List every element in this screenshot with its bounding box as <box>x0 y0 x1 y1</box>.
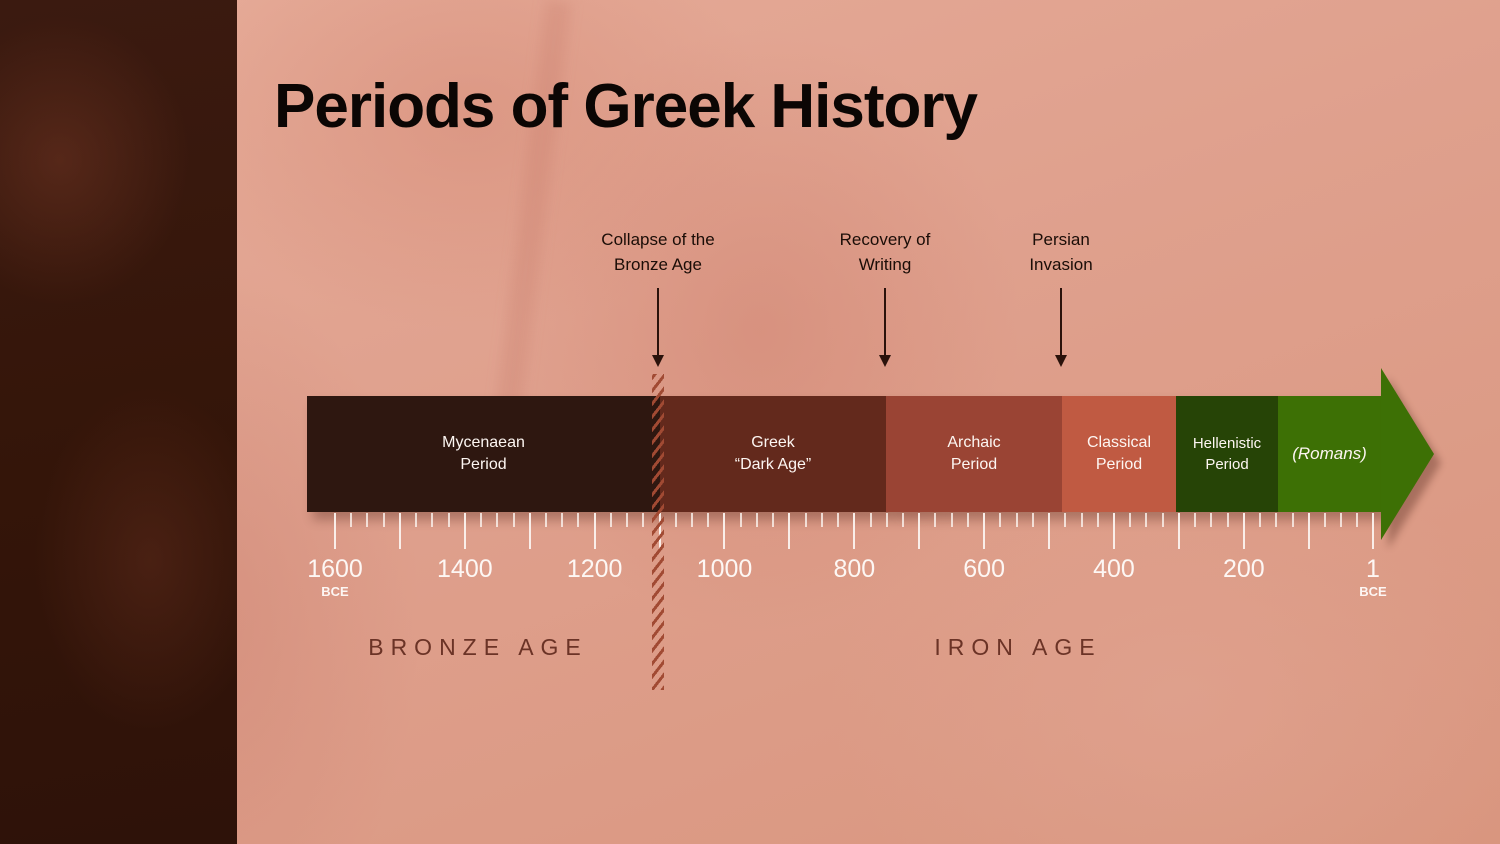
ruler-minor-tick <box>902 513 904 527</box>
ruler-minor-tick <box>415 513 417 527</box>
event-annotation-arrow-icon <box>878 288 892 367</box>
ruler-tick-label: 1400 <box>437 555 493 584</box>
ruler-minor-tick <box>999 513 1001 527</box>
event-annotation-label: Persian Invasion <box>1029 228 1092 277</box>
timeline-segment: Archaic Period <box>886 396 1062 512</box>
ruler-tick-sublabel: BCE <box>1359 584 1386 599</box>
ruler-major-tick <box>723 513 725 549</box>
ruler-minor-tick <box>1227 513 1229 527</box>
ruler-tick-label: 1 <box>1366 555 1380 584</box>
ruler-minor-tick <box>1064 513 1066 527</box>
timeline-segment-label: Mycenaean Period <box>442 432 525 477</box>
ruler-minor-tick <box>870 513 872 527</box>
timeline-segment: Mycenaean Period <box>307 396 660 512</box>
ruler-minor-tick <box>821 513 823 527</box>
ruler-minor-tick <box>383 513 385 527</box>
age-label: BRONZE AGE <box>368 634 588 661</box>
timeline-segment: Classical Period <box>1062 396 1176 512</box>
ruler-minor-tick <box>642 513 644 527</box>
ruler-minor-tick <box>610 513 612 527</box>
ruler-major-tick <box>1048 513 1050 549</box>
ruler-minor-tick <box>545 513 547 527</box>
timeline-segment-label: Greek “Dark Age” <box>735 432 811 477</box>
ruler-major-tick <box>1308 513 1310 549</box>
ruler-major-tick <box>918 513 920 549</box>
ruler-minor-tick <box>496 513 498 527</box>
ruler-minor-tick <box>837 513 839 527</box>
ruler-tick-label: 1600 <box>307 555 363 584</box>
ruler-major-tick <box>594 513 596 549</box>
ruler-minor-tick <box>1081 513 1083 527</box>
ruler-minor-tick <box>1194 513 1196 527</box>
ruler-minor-tick <box>1340 513 1342 527</box>
ruler-minor-tick <box>772 513 774 527</box>
ruler-minor-tick <box>886 513 888 527</box>
ruler-major-tick <box>1243 513 1245 549</box>
ruler-minor-tick <box>805 513 807 527</box>
ruler-major-tick <box>788 513 790 549</box>
timeline-segment-label: (Romans) <box>1292 442 1367 466</box>
ruler-minor-tick <box>366 513 368 527</box>
ruler-minor-tick <box>707 513 709 527</box>
ruler-minor-tick <box>1275 513 1277 527</box>
ruler-minor-tick <box>1292 513 1294 527</box>
ruler-major-tick <box>1372 513 1374 549</box>
ruler-minor-tick <box>740 513 742 527</box>
ruler-minor-tick <box>691 513 693 527</box>
ruler-major-tick <box>983 513 985 549</box>
ruler-major-tick <box>1178 513 1180 549</box>
ruler-minor-tick <box>934 513 936 527</box>
ruler-minor-tick <box>350 513 352 527</box>
ruler-tick-label: 200 <box>1223 555 1265 584</box>
ruler-major-tick <box>853 513 855 549</box>
bronze-iron-age-divider <box>652 374 664 690</box>
ruler-major-tick <box>464 513 466 549</box>
timeline-segment-label: Archaic Period <box>947 432 1000 477</box>
page-title: Periods of Greek History <box>274 74 977 139</box>
ruler-minor-tick <box>561 513 563 527</box>
ruler-minor-tick <box>1016 513 1018 527</box>
age-label: IRON AGE <box>934 634 1101 661</box>
ruler-tick-label: 400 <box>1093 555 1135 584</box>
ruler-minor-tick <box>1145 513 1147 527</box>
ruler-minor-tick <box>1324 513 1326 527</box>
ruler-minor-tick <box>448 513 450 527</box>
ruler-minor-tick <box>626 513 628 527</box>
ruler-minor-tick <box>1259 513 1261 527</box>
ruler-major-tick <box>1113 513 1115 549</box>
ruler-major-tick <box>399 513 401 549</box>
ruler-tick-label: 600 <box>963 555 1005 584</box>
timeline-segment-label: Classical Period <box>1087 432 1151 477</box>
ruler-minor-tick <box>431 513 433 527</box>
timeline-segment: (Romans) <box>1278 396 1381 512</box>
ruler-tick-label: 800 <box>833 555 875 584</box>
event-annotation-label: Recovery of Writing <box>840 228 931 277</box>
event-annotation-label: Collapse of the Bronze Age <box>601 228 714 277</box>
ruler-minor-tick <box>480 513 482 527</box>
ruler-minor-tick <box>675 513 677 527</box>
ruler-minor-tick <box>1356 513 1358 527</box>
timeline-segment: Greek “Dark Age” <box>660 396 886 512</box>
ruler-major-tick <box>334 513 336 549</box>
slide-canvas: Periods of Greek History Collapse of the… <box>0 0 1500 844</box>
ruler-minor-tick <box>513 513 515 527</box>
ruler-minor-tick <box>1129 513 1131 527</box>
event-annotation-arrow-icon <box>651 288 665 367</box>
ruler-minor-tick <box>951 513 953 527</box>
ruler-minor-tick <box>967 513 969 527</box>
timeline-segment: Hellenistic Period <box>1176 396 1278 512</box>
ruler-major-tick <box>529 513 531 549</box>
ruler-minor-tick <box>1210 513 1212 527</box>
ruler-minor-tick <box>1162 513 1164 527</box>
timeline-ruler <box>0 513 1500 549</box>
ruler-tick-label: 1000 <box>697 555 753 584</box>
ruler-minor-tick <box>577 513 579 527</box>
ruler-tick-sublabel: BCE <box>321 584 348 599</box>
ruler-minor-tick <box>756 513 758 527</box>
event-annotation-arrow-icon <box>1054 288 1068 367</box>
left-panel-overlay <box>0 0 237 844</box>
ruler-tick-label: 1200 <box>567 555 623 584</box>
ruler-minor-tick <box>1097 513 1099 527</box>
timeline-bar: Mycenaean PeriodGreek “Dark Age”Archaic … <box>307 396 1381 512</box>
timeline-segment-label: Hellenistic Period <box>1193 433 1261 475</box>
ruler-minor-tick <box>1032 513 1034 527</box>
